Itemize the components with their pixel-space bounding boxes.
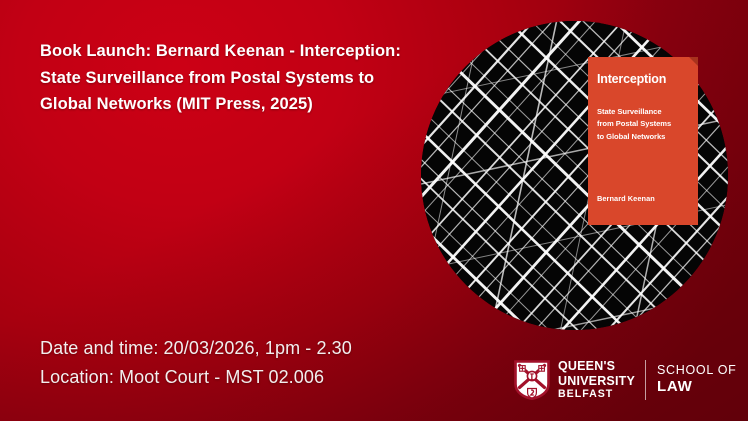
wordmark-line-queens: QUEEN'S bbox=[558, 359, 635, 374]
school-line-school-of: SCHOOL OF bbox=[657, 363, 736, 379]
book-cover-author: Bernard Keenan bbox=[597, 194, 655, 203]
queens-university-crest-icon bbox=[514, 360, 550, 400]
book-cover-title: Interception bbox=[597, 73, 691, 87]
event-details: Date and time: 20/03/2026, 1pm - 2.30 Lo… bbox=[40, 334, 352, 392]
wordmark-line-belfast: BELFAST bbox=[558, 388, 635, 400]
book-cover: Interception State Surveillance from Pos… bbox=[588, 57, 698, 225]
book-cover-subtitle-line-1: State Surveillance bbox=[597, 106, 692, 118]
logo-divider bbox=[645, 360, 646, 400]
queens-university-wordmark: QUEEN'S UNIVERSITY BELFAST bbox=[558, 359, 645, 400]
event-poster: Interception State Surveillance from Pos… bbox=[0, 0, 748, 421]
book-cover-subtitle-line-2: from Postal Systems bbox=[597, 118, 692, 130]
school-line-law: LAW bbox=[657, 378, 736, 397]
book-cover-subtitle: State Surveillance from Postal Systems t… bbox=[597, 106, 692, 143]
wordmark-line-university: UNIVERSITY bbox=[558, 374, 635, 389]
event-date-time: Date and time: 20/03/2026, 1pm - 2.30 bbox=[40, 334, 352, 363]
book-cover-corner-fold bbox=[689, 57, 698, 66]
event-location: Location: Moot Court - MST 02.006 bbox=[40, 363, 352, 392]
book-cover-subtitle-line-3: to Global Networks bbox=[597, 131, 692, 143]
page-title: Book Launch: Bernard Keenan - Intercepti… bbox=[40, 38, 410, 118]
logo-lockup: QUEEN'S UNIVERSITY BELFAST SCHOOL OF LAW bbox=[514, 358, 736, 402]
school-of-law-wordmark: SCHOOL OF LAW bbox=[657, 363, 736, 397]
